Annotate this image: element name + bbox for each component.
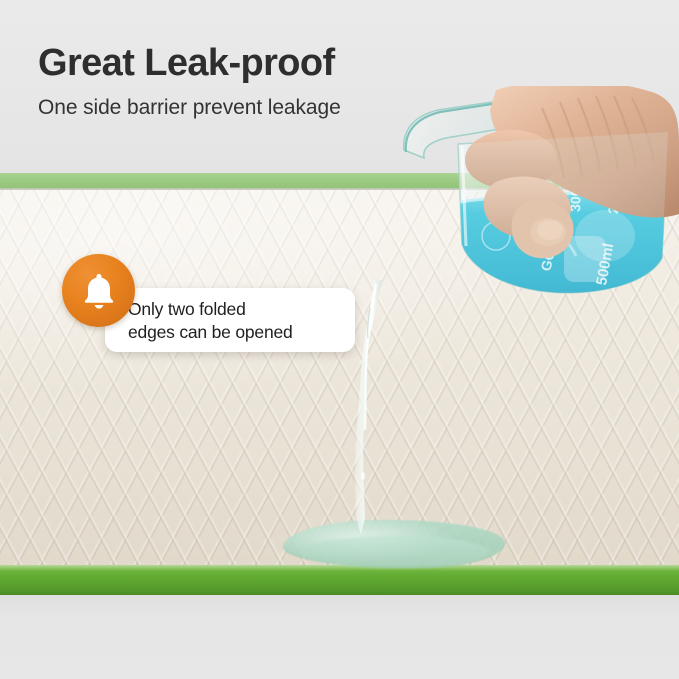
badge-circle [62, 254, 135, 327]
water-stream [352, 280, 398, 535]
promo-image: Great Leak-proof One side barrier preven… [0, 0, 679, 679]
water-puddle-inner [300, 536, 490, 568]
beaker-and-hand: 500 APPROX 300 200 500ml GG [400, 86, 679, 326]
callout-line-2: edges can be opened [128, 321, 354, 344]
callout-line-1: Only two folded [128, 298, 354, 321]
page-subtitle: One side barrier prevent leakage [38, 96, 341, 120]
callout-text: Only two folded edges can be opened [128, 298, 354, 344]
mat-bottom-edge-highlight [0, 565, 679, 571]
bottom-background-band [0, 595, 679, 679]
bell-icon [80, 271, 118, 311]
page-title: Great Leak-proof [38, 42, 335, 86]
